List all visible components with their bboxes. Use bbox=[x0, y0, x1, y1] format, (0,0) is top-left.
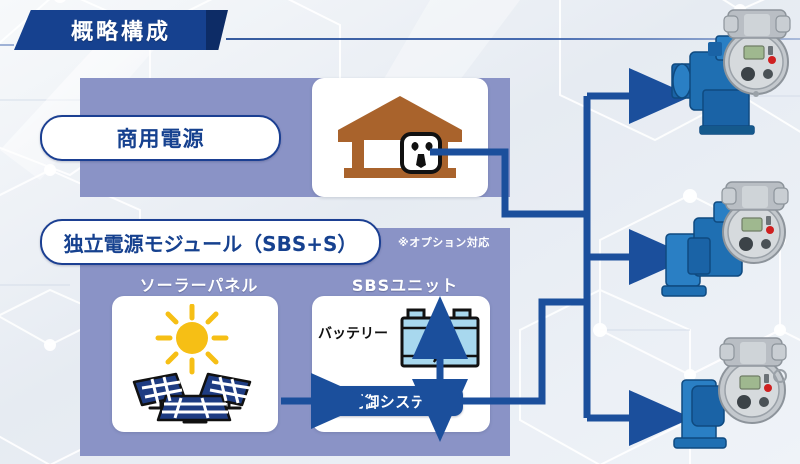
page-title-banner: 概略構成 bbox=[14, 10, 224, 50]
solar-panel-array-icon bbox=[126, 304, 266, 426]
warehouse-icon bbox=[330, 90, 470, 186]
commercial-power-label: 商用電源 bbox=[117, 123, 205, 153]
grid-building-card bbox=[312, 78, 488, 197]
diagram-canvas: 概略構成 bbox=[0, 0, 800, 464]
independent-module-pill: 独立電源モジュール（SBS+S） bbox=[40, 219, 381, 265]
solar-panel-card bbox=[112, 296, 278, 432]
page-title: 概略構成 bbox=[67, 14, 171, 46]
control-system-label: 制御システム bbox=[349, 391, 442, 412]
actuator-unit-1 bbox=[648, 2, 798, 142]
blue-pump-actuator-icon bbox=[672, 10, 790, 134]
banner-left-tick bbox=[0, 44, 14, 46]
actuator-unit-2 bbox=[648, 176, 798, 304]
battery-icon bbox=[396, 304, 486, 376]
battery-label: バッテリー bbox=[318, 323, 388, 343]
sbs-unit-label: SBSユニット bbox=[330, 272, 480, 296]
control-system-box: 制御システム bbox=[327, 386, 463, 416]
option-note-label: ※オプション対応 bbox=[398, 234, 490, 250]
commercial-power-pill: 商用電源 bbox=[40, 115, 281, 161]
blue-pump-actuator-icon bbox=[662, 182, 788, 296]
power-outlet-icon bbox=[402, 134, 440, 172]
independent-module-label: 独立電源モジュール（SBS+S） bbox=[64, 228, 358, 257]
blue-pump-actuator-icon bbox=[674, 338, 786, 448]
solar-panel-label: ソーラーパネル bbox=[124, 272, 274, 296]
actuator-unit-3 bbox=[648, 334, 798, 462]
